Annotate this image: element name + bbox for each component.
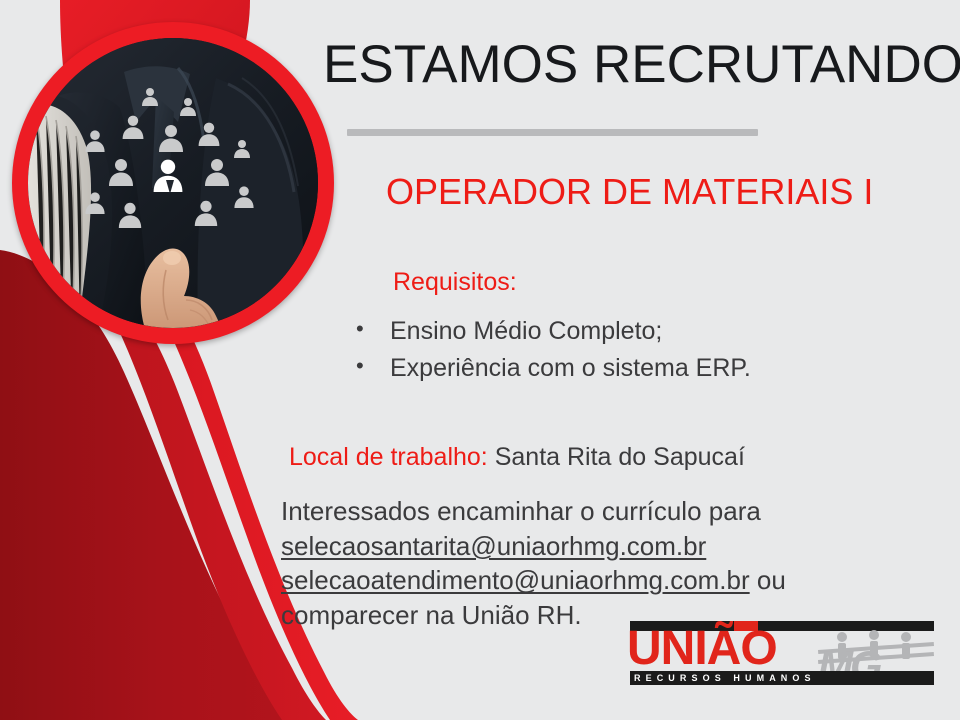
- recruitment-photo: [28, 38, 318, 328]
- work-location-label: Local de trabalho:: [289, 443, 488, 471]
- email-link-2[interactable]: selecaoatendimento@uniaorhmg.com.br: [281, 565, 750, 595]
- uniao-rh-logo: UNIÃO MG RECURSOS HUMANOS: [630, 621, 934, 693]
- requirements-list: Ensino Médio Completo; Experiência com o…: [352, 313, 872, 386]
- logo-tagline: RECURSOS HUMANOS: [634, 672, 816, 684]
- list-item: Ensino Médio Completo;: [352, 313, 872, 350]
- contact-conjunction: ou: [750, 565, 786, 595]
- recruitment-poster: ESTAMOS RECRUTANDO OPERADOR DE MATERIAIS…: [0, 0, 960, 720]
- work-location-value: Santa Rita do Sapucaí: [495, 443, 745, 471]
- requirements-label: Requisitos:: [393, 268, 517, 297]
- job-title: OPERADOR DE MATERIAIS I: [386, 172, 873, 212]
- photo-ring: [12, 22, 334, 344]
- page-title: ESTAMOS RECRUTANDO: [323, 38, 943, 91]
- title-divider: [347, 129, 758, 136]
- contact-instructions: Interessados encaminhar o currículo para…: [281, 494, 941, 632]
- list-item: Experiência com o sistema ERP.: [352, 350, 872, 387]
- businessman-icons-illustration: [28, 38, 318, 328]
- email-link-1[interactable]: selecaosantarita@uniaorhmg.com.br: [281, 531, 706, 561]
- work-location: Local de trabalho: Santa Rita do Sapucaí: [289, 443, 745, 472]
- logo-wordmark: UNIÃO: [627, 625, 777, 673]
- contact-intro: Interessados encaminhar o currículo para: [281, 494, 941, 529]
